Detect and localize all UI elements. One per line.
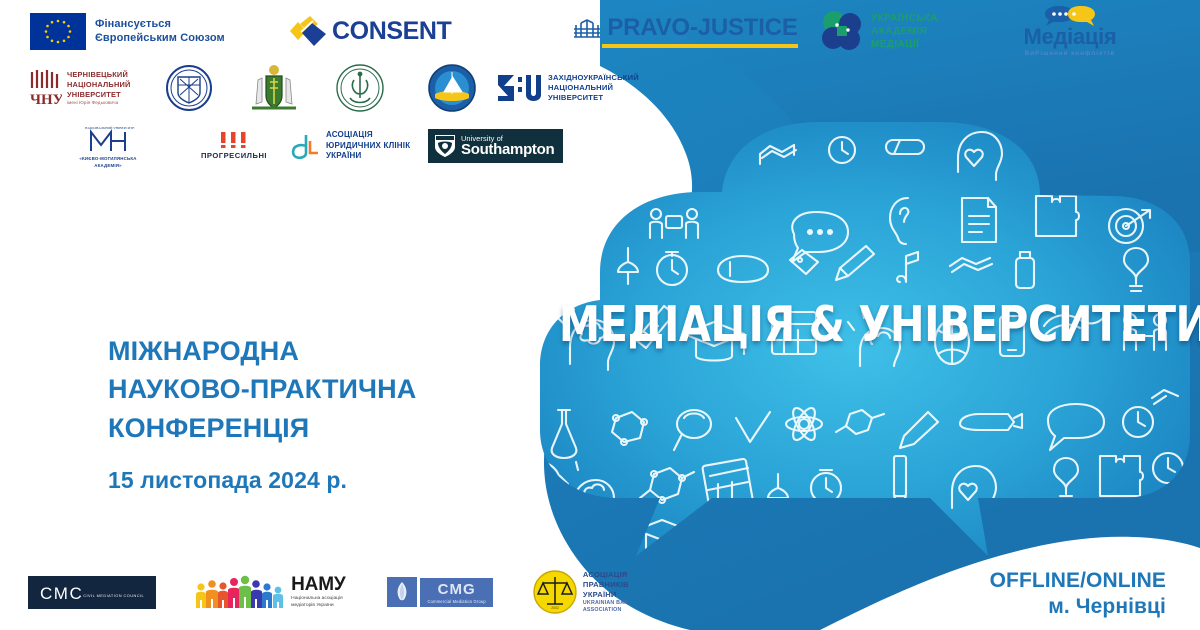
zunu-line-3: УНІВЕРСИТЕТ bbox=[548, 93, 639, 103]
people-row-icon bbox=[194, 574, 286, 610]
uam-line-3: МЕДІАЦІЇ bbox=[871, 38, 938, 51]
logo-consent: CONSENT bbox=[288, 14, 550, 48]
logo-university-crest-heraldic bbox=[234, 64, 314, 112]
namu-text: НАМУ Національна асоціація медіаторів Ук… bbox=[291, 575, 345, 609]
headline-line-1: МІЖНАРОДНА bbox=[108, 332, 416, 370]
event-city: м. Чернівці bbox=[990, 594, 1166, 620]
zunu-text: ЗАХІДНОУКРАЇНСЬКИЙ НАЦІОНАЛЬНИЙ УНІВЕРСИ… bbox=[548, 73, 639, 104]
conference-date: 15 листопада 2024 р. bbox=[108, 467, 416, 494]
eu-line-1: Фінансується bbox=[95, 17, 225, 31]
logo-zunu: ЗАХІДНОУКРАЇНСЬКИЙ НАЦІОНАЛЬНИЙ УНІВЕРСИ… bbox=[498, 73, 646, 104]
maritime-seal-icon bbox=[428, 64, 476, 112]
chnu-line-2: НАЦІОНАЛЬНИЙ bbox=[67, 80, 131, 90]
progresylni-wordmark: ПРОГРЕСИЛЬНІ bbox=[201, 151, 267, 160]
logo-eu-funding: Фінансується Європейським Союзом bbox=[30, 13, 288, 50]
headline-line-2: НАУКОВО-ПРАКТИЧНА bbox=[108, 370, 416, 408]
uba-en-2: ASSOCIATION bbox=[583, 607, 629, 614]
chnu-line-1: ЧЕРНІВЕЦЬКИЙ bbox=[67, 70, 131, 80]
consent-wordmark: CONSENT bbox=[332, 17, 451, 46]
cmg-subtitle: Commercial Mediation Group bbox=[427, 599, 485, 604]
uba-line-3: УКРАЇНИ bbox=[583, 590, 629, 600]
logo-legal-clinics-association: АСОЦІАЦІЯ ЮРИДИЧНИХ КЛІНІК УКРАЇНИ bbox=[290, 130, 428, 161]
namu-line-1: Національна асоціація bbox=[291, 596, 345, 603]
eu-line-2: Європейським Союзом bbox=[95, 31, 225, 45]
blue-crest-icon bbox=[166, 65, 212, 111]
logo-southampton: University of Southampton bbox=[428, 129, 563, 163]
logo-chnu: ЧНУ ЧЕРНІВЕЦЬКИЙ НАЦІОНАЛЬНИЙ УНІВЕРСИТЕ… bbox=[28, 68, 144, 108]
logo-pravo-justice: PRAVO-JUSTICE bbox=[550, 14, 820, 48]
ayk-line-1: АСОЦІАЦІЯ bbox=[326, 130, 410, 140]
chnu-monogram-icon: ЧНУ bbox=[28, 68, 62, 108]
partner-logos-row-3: НАЦІОНАЛЬНИЙ УНІВЕРСИТЕТ «КИЄВО-МОГИЛЯНС… bbox=[60, 122, 560, 170]
headline-line-3: КОНФЕРЕНЦІЯ bbox=[108, 409, 416, 447]
svg-text:ЧНУ: ЧНУ bbox=[30, 92, 62, 108]
zunu-line-2: НАЦІОНАЛЬНИЙ bbox=[548, 83, 639, 93]
namu-subtitle: Національна асоціація медіаторів України bbox=[291, 596, 345, 609]
eu-funding-text: Фінансується Європейським Союзом bbox=[95, 17, 225, 45]
pravo-justice-underline bbox=[602, 44, 798, 48]
mediatsiya-tagline: ВиРішення конфліктів bbox=[1025, 50, 1116, 57]
logo-ukrainian-academy-mediation: УКРАЇНСЬКА АКАДЕМІЯ МЕДІАЦІЇ bbox=[820, 10, 1010, 52]
chnu-text: ЧЕРНІВЕЦЬКИЙ НАЦІОНАЛЬНИЙ УНІВЕРСИТЕТ ім… bbox=[67, 70, 131, 105]
heraldic-crest-icon bbox=[248, 64, 300, 112]
mohyla-monogram-icon: НАЦІОНАЛЬНИЙ УНІВЕРСИТЕТ bbox=[81, 123, 135, 155]
uba-line-2: ПРАВНИКІВ bbox=[583, 580, 629, 590]
consent-diamond-icon bbox=[288, 14, 328, 48]
doodle-helmet-icon bbox=[552, 246, 596, 272]
cmc-subtitle: CIVIL MEDIATION COUNCIL bbox=[83, 593, 144, 598]
uam-line-1: УКРАЇНСЬКА bbox=[871, 12, 938, 25]
pravo-justice-building-icon bbox=[572, 17, 602, 39]
logo-namu: НАМУ Національна асоціація медіаторів Ук… bbox=[194, 574, 345, 610]
logo-cmg: CMG Commercial Mediation Group bbox=[387, 577, 492, 607]
speech-bubbles-icon bbox=[1043, 6, 1097, 26]
eu-flag-icon bbox=[30, 13, 86, 50]
venn-circles-icon bbox=[820, 10, 864, 52]
uba-en-1: UKRAINIAN BAR bbox=[583, 600, 629, 607]
partner-logos-row-2: ЧНУ ЧЕРНІВЕЦЬКИЙ НАЦІОНАЛЬНИЙ УНІВЕРСИТЕ… bbox=[28, 62, 648, 114]
svg-text:2002: 2002 bbox=[551, 606, 559, 610]
event-location: OFFLINE/ONLINE м. Чернівці bbox=[990, 568, 1166, 619]
logo-mediatsiya: Медіація ВиРішення конфліктів bbox=[1010, 6, 1130, 57]
logo-university-crest-maritime bbox=[406, 64, 498, 112]
conference-poster: Фінансується Європейським Союзом CONSENT bbox=[0, 0, 1200, 630]
three-bars-icon bbox=[219, 132, 249, 148]
cmg-wordmark: CMG bbox=[427, 582, 485, 597]
eu-stars-icon bbox=[30, 13, 86, 50]
ayk-line-3: УКРАЇНИ bbox=[326, 151, 410, 161]
chnu-subtitle: імені Юрія Федьковича bbox=[67, 100, 131, 106]
zunu-monogram-icon bbox=[498, 73, 542, 103]
svg-text:НАЦІОНАЛЬНИЙ УНІВЕРСИТЕТ: НАЦІОНАЛЬНИЙ УНІВЕРСИТЕТ bbox=[85, 125, 135, 130]
event-format: OFFLINE/ONLINE bbox=[990, 568, 1166, 594]
uam-line-2: АКАДЕМІЯ bbox=[871, 25, 938, 38]
zunu-line-1: ЗАХІДНОУКРАЇНСЬКИЙ bbox=[548, 73, 639, 83]
namu-line-2: медіаторів України bbox=[291, 603, 345, 610]
southampton-wordmark: University of Southampton bbox=[461, 135, 554, 157]
southampton-shield-icon bbox=[434, 134, 456, 158]
scales-of-justice-icon: 2002 bbox=[533, 570, 577, 614]
conference-headline: МІЖНАРОДНА НАУКОВО-ПРАКТИЧНА КОНФЕРЕНЦІЯ… bbox=[108, 332, 416, 494]
bubble-title: МЕДІАЦІЯ & УНІВЕРСИТЕТИ bbox=[559, 300, 1151, 349]
partner-logos-bottom-row: CMC CIVIL MEDIATION COUNCIL НАМУ bbox=[28, 566, 558, 618]
ayk-line-2: ЮРИДИЧНИХ КЛІНІК bbox=[326, 141, 410, 151]
clinic-mark-icon bbox=[290, 131, 320, 161]
mediatsiya-wordmark: Медіація bbox=[1024, 26, 1117, 48]
logo-university-crest-blue bbox=[144, 65, 234, 111]
green-seal-icon bbox=[336, 64, 384, 112]
cmc-wordmark: CMC bbox=[40, 585, 83, 602]
southampton-line-2: Southampton bbox=[461, 142, 554, 157]
logo-university-crest-green bbox=[314, 64, 406, 112]
cmg-flower-icon bbox=[387, 577, 417, 607]
uba-text: АСОЦІАЦІЯ ПРАВНИКІВ УКРАЇНИ UKRAINIAN BA… bbox=[583, 570, 629, 614]
logo-progresylni: ПРОГРЕСИЛЬНІ bbox=[178, 132, 290, 160]
uba-line-1: АСОЦІАЦІЯ bbox=[583, 570, 629, 580]
pravo-justice-wordmark: PRAVO-JUSTICE bbox=[607, 14, 797, 42]
namu-wordmark: НАМУ bbox=[291, 575, 345, 594]
logo-uba: 2002 АСОЦІАЦІЯ ПРАВНИКІВ УКРАЇНИ UKRAINI… bbox=[533, 570, 629, 614]
uam-text: УКРАЇНСЬКА АКАДЕМІЯ МЕДІАЦІЇ bbox=[871, 12, 938, 51]
partner-logos-row-1: Фінансується Європейським Союзом CONSENT bbox=[30, 8, 1180, 54]
chnu-line-3: УНІВЕРСИТЕТ bbox=[67, 90, 131, 100]
ayk-text: АСОЦІАЦІЯ ЮРИДИЧНИХ КЛІНІК УКРАЇНИ bbox=[326, 130, 410, 161]
cmg-wordmark-box: CMG Commercial Mediation Group bbox=[420, 578, 492, 607]
mohyla-line-2: АКАДЕМІЯ» bbox=[79, 163, 136, 169]
logo-kyiv-mohyla: НАЦІОНАЛЬНИЙ УНІВЕРСИТЕТ «КИЄВО-МОГИЛЯНС… bbox=[60, 123, 156, 168]
mohyla-line-1: «КИЄВО-МОГИЛЯНСЬКА bbox=[79, 156, 136, 162]
logo-cmc: CMC CIVIL MEDIATION COUNCIL bbox=[28, 576, 156, 609]
